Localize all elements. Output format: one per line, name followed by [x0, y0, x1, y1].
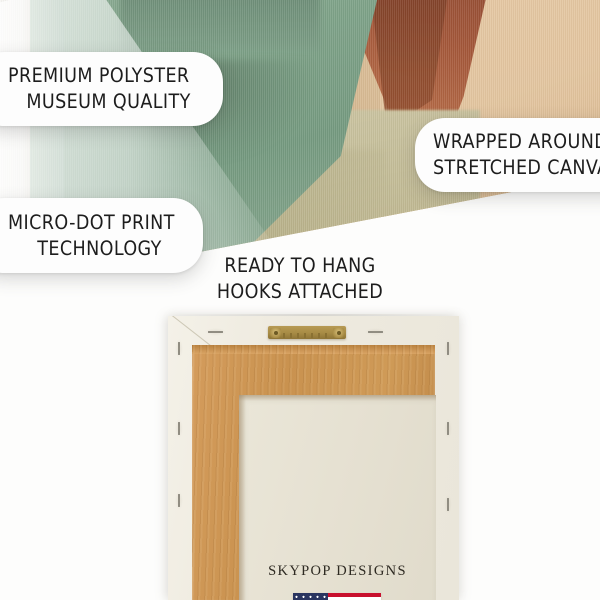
staple-left-1 [178, 342, 180, 355]
brand-name: SKYPOP DESIGNS [239, 563, 436, 580]
staple-right-2 [447, 422, 449, 435]
feature-caption-ready-to-hang: READY TO HANG HOOKS ATTACHED [0, 253, 600, 306]
staple-top-right [368, 331, 383, 333]
staple-right-3 [447, 498, 449, 511]
sawtooth-hanger-icon [268, 326, 346, 339]
feature-line-2: STRETCHED CANVAS [433, 155, 600, 181]
flag-union [293, 593, 328, 600]
staple-left-2 [178, 422, 180, 435]
us-flag-icon [293, 593, 381, 600]
feature-line-2: MUSEUM QUALITY [26, 89, 190, 115]
staple-top-left [208, 331, 223, 333]
stretcher-frame: SKYPOP DESIGNS [192, 345, 435, 600]
hanger-teeth [283, 333, 331, 338]
flag-stars [293, 593, 328, 600]
feature-line-1: WRAPPED AROUND [433, 129, 600, 155]
feature-line-1: PREMIUM POLYSTER [8, 63, 190, 89]
feature-line-1: READY TO HANG [0, 253, 600, 279]
hanger-screw-hole-right [333, 328, 344, 338]
staple-right-1 [447, 342, 449, 355]
hanger-screw-hole-left [270, 328, 281, 338]
canvas-inner-panel: SKYPOP DESIGNS [239, 395, 436, 600]
product-feature-graphic: PREMIUM POLYSTER MUSEUM QUALITY MICRO-DO… [0, 0, 600, 600]
feature-callout-premium-polyster[interactable]: PREMIUM POLYSTER MUSEUM QUALITY [0, 52, 223, 126]
feature-callout-wrapped-around[interactable]: WRAPPED AROUND STRETCHED CANVAS [415, 118, 600, 192]
feature-line-1: MICRO-DOT PRINT [8, 210, 175, 236]
staple-left-3 [178, 494, 180, 507]
canvas-back-view: SKYPOP DESIGNS [168, 316, 459, 600]
canvas-inner-bevel-top [239, 395, 436, 401]
feature-line-2: HOOKS ATTACHED [0, 279, 600, 305]
